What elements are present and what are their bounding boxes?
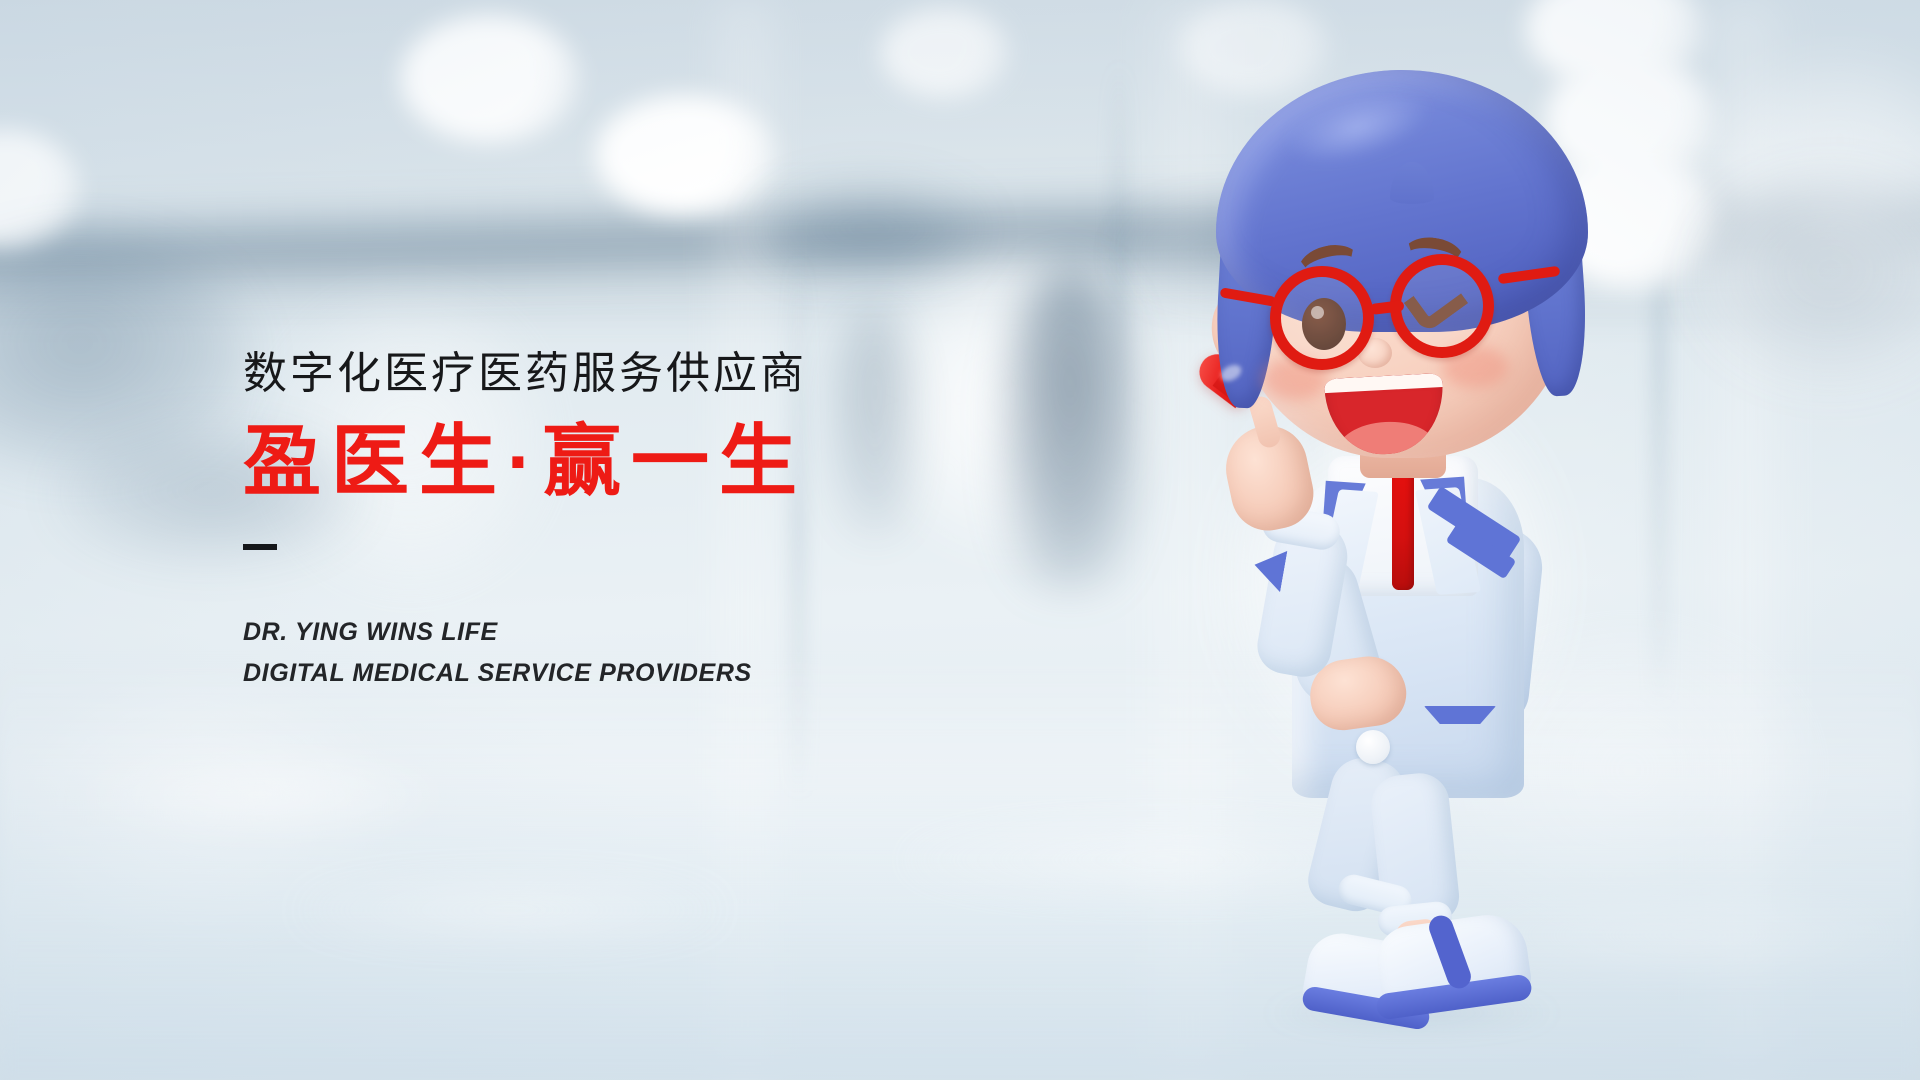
english-tagline-1: DR. YING WINS LIFE <box>243 612 807 653</box>
page-title-chinese: 盈医生·赢一生 <box>243 422 807 500</box>
english-tagline-2: DIGITAL MEDICAL SERVICE PROVIDERS <box>243 653 807 694</box>
banner-stage: 数字化医疗医药服务供应商 盈医生·赢一生 DR. YING WINS LIFE … <box>0 0 1920 1080</box>
divider-rule <box>243 544 277 550</box>
english-tagline-group: DR. YING WINS LIFE DIGITAL MEDICAL SERVI… <box>243 612 807 693</box>
mascot-tongue <box>1336 419 1437 457</box>
hero-copy: 数字化医疗医药服务供应商 盈医生·赢一生 DR. YING WINS LIFE … <box>243 352 807 693</box>
mascot-mouth <box>1324 373 1446 457</box>
glasses-lens-left <box>1270 266 1374 370</box>
page-subtitle-chinese: 数字化医疗医药服务供应商 <box>243 352 807 396</box>
glasses-lens-right <box>1390 254 1494 358</box>
doctor-mascot-illustration <box>1210 58 1640 1028</box>
mascot-coat-button-2 <box>1356 730 1390 764</box>
